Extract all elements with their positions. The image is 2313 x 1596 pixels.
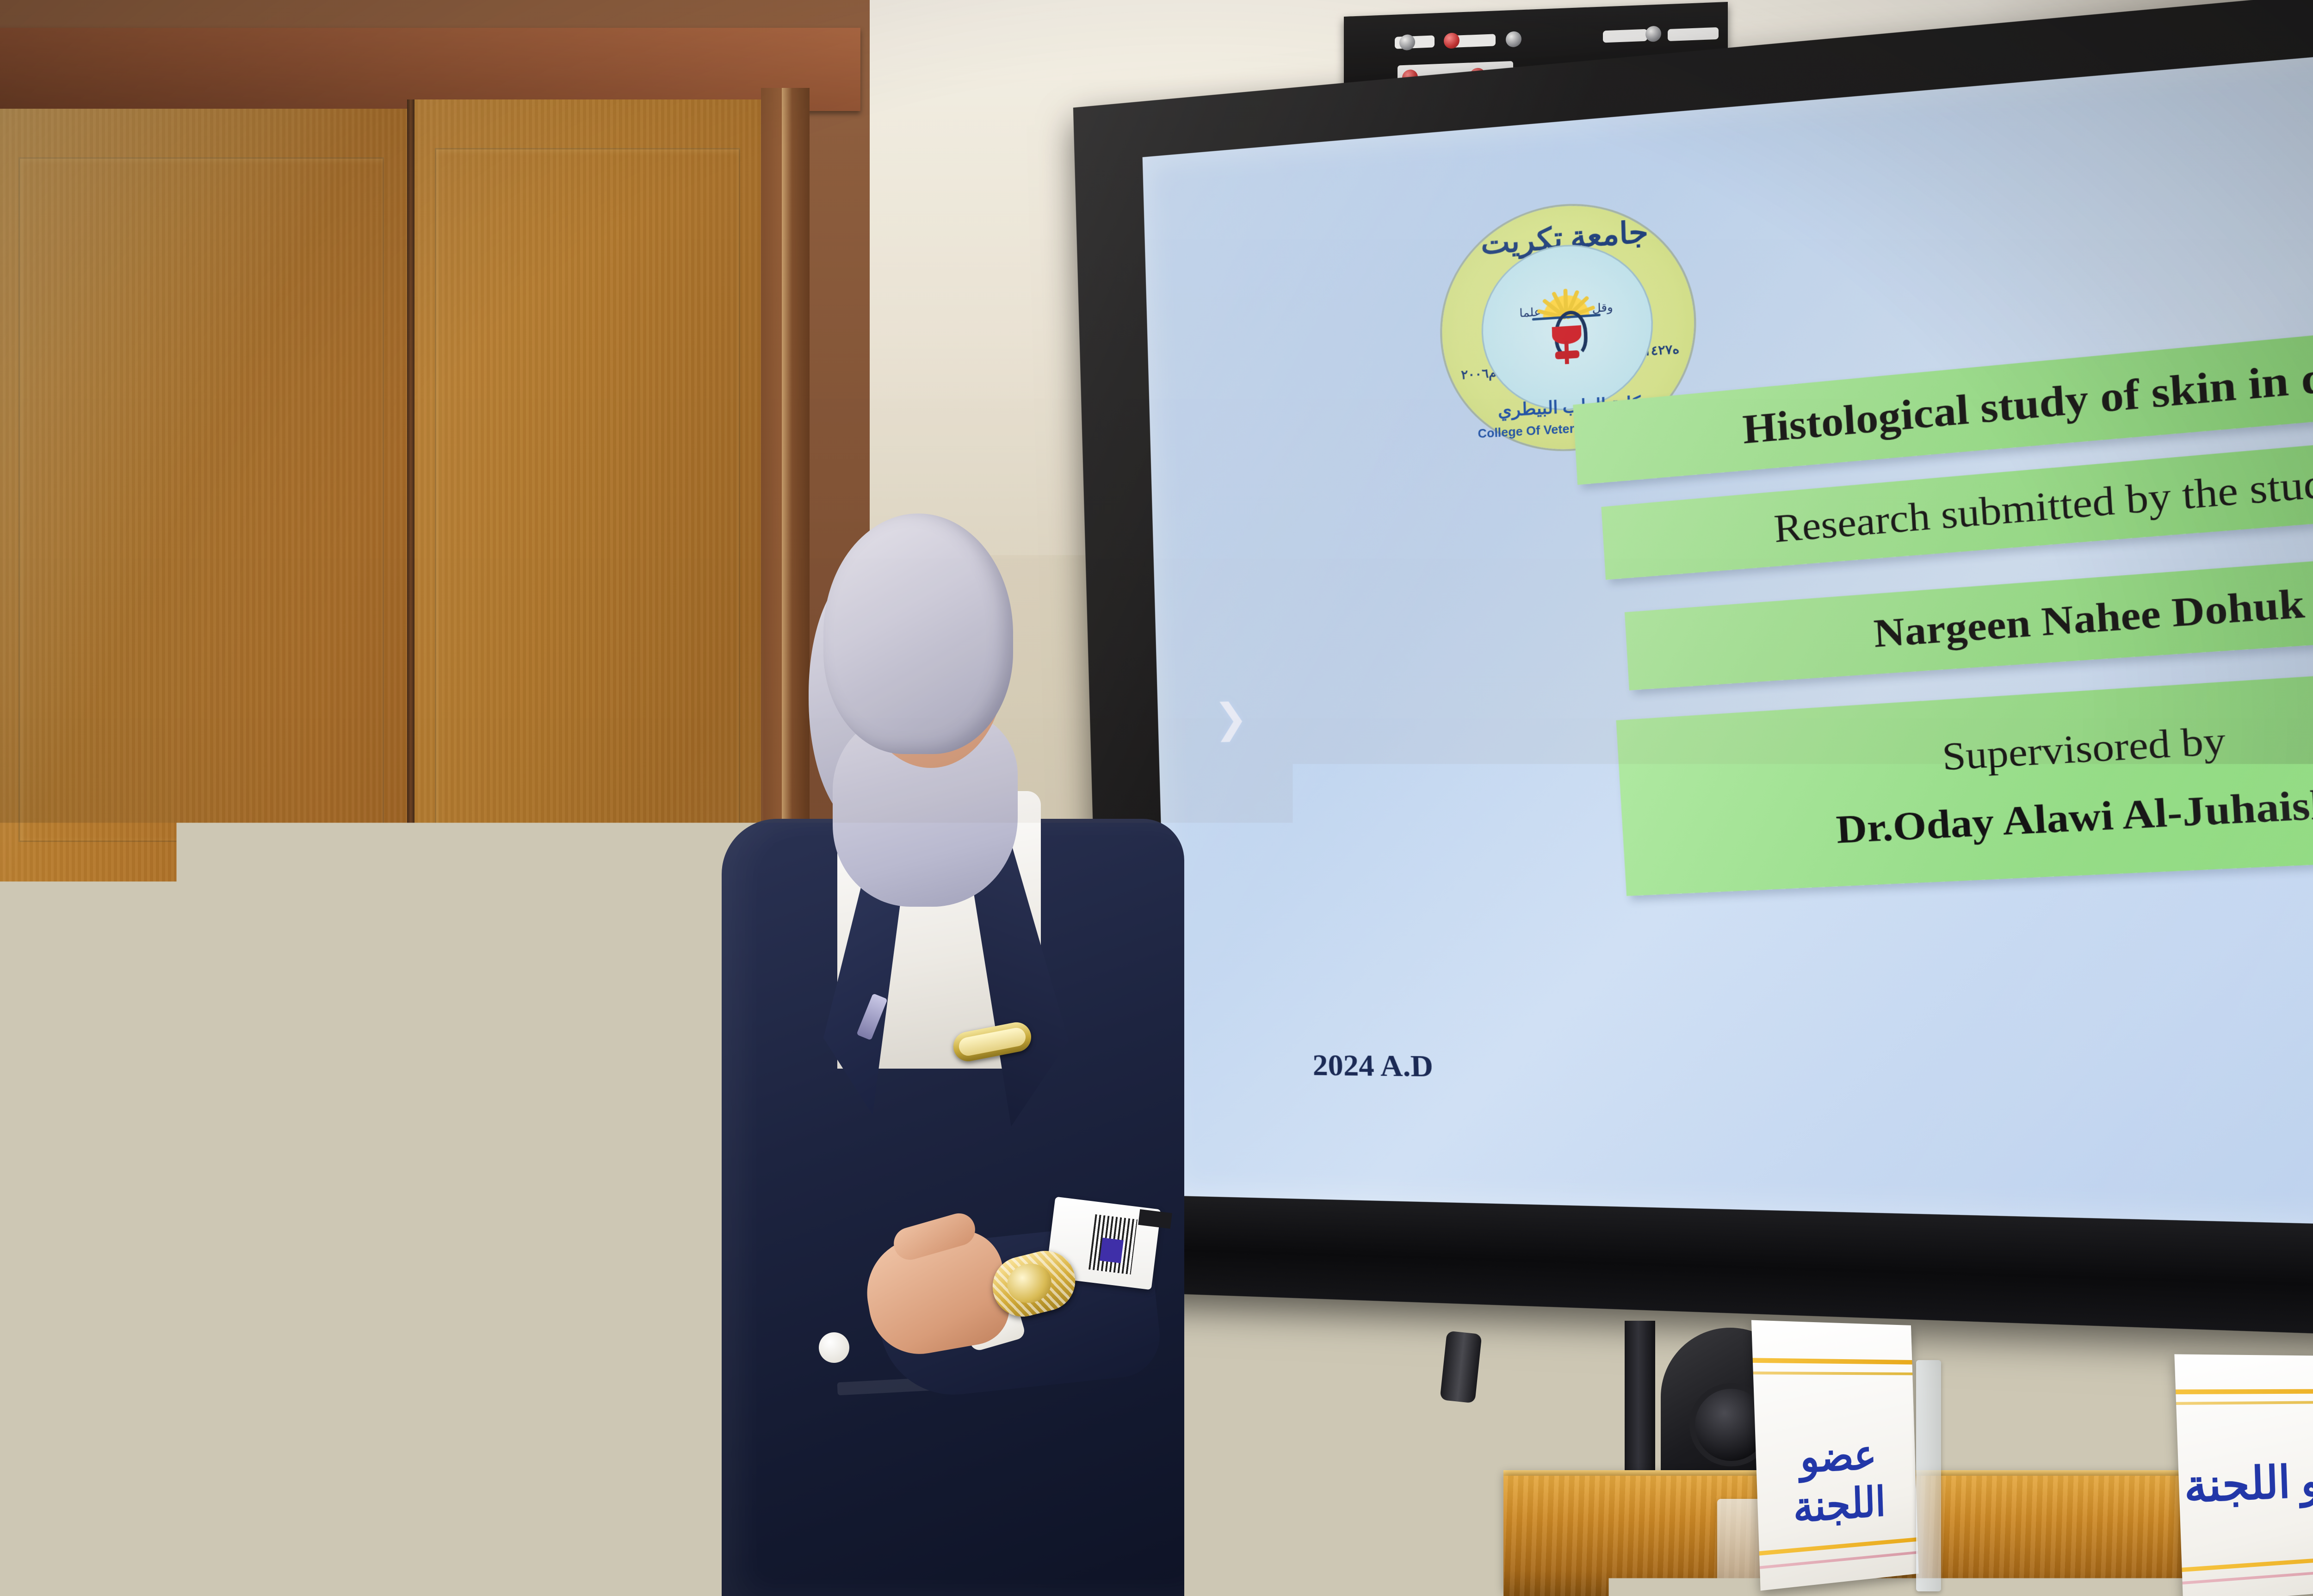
hdmi-cable-plug[interactable] bbox=[545, 1101, 600, 1127]
mount-screw bbox=[1506, 31, 1521, 47]
door-handle-knob[interactable] bbox=[281, 1078, 321, 1116]
door-keyhole[interactable] bbox=[391, 1170, 404, 1196]
committee-name-card: عضو اللجنة bbox=[2174, 1354, 2313, 1596]
card-stripe-gold-thin bbox=[2176, 1400, 2313, 1405]
door-sheen bbox=[0, 109, 763, 1596]
cable-ferrite-bead bbox=[1440, 1330, 1482, 1403]
card-stand-post bbox=[2156, 1392, 2181, 1596]
door-header-beam bbox=[0, 28, 860, 111]
card-label: عضو اللجنة bbox=[1755, 1430, 1917, 1535]
mount-slot bbox=[1603, 29, 1647, 43]
card-stripe-gold-bottom bbox=[2182, 1553, 2313, 1572]
committee-name-card: عضو اللجنة bbox=[1751, 1320, 1919, 1591]
mount-slot bbox=[1668, 27, 1719, 41]
card-stripe-gold bbox=[2176, 1389, 2313, 1394]
presenter bbox=[685, 513, 1286, 1596]
photo-scene: جامعة تكريت م٢٠٠٦ ه١٤٢٧ وقل رب زدني علما bbox=[0, 0, 2313, 1596]
card-stripe-pink bbox=[1760, 1551, 1918, 1569]
card-stripe-gold-thin bbox=[1753, 1372, 1913, 1375]
hijab-headscarf bbox=[823, 513, 1013, 754]
tag-blue-mark bbox=[1100, 1237, 1124, 1263]
blazer-button bbox=[819, 1332, 849, 1363]
mount-screw bbox=[1645, 26, 1661, 42]
card-stand-post bbox=[1916, 1360, 1941, 1591]
card-label: عضو اللجنة bbox=[2178, 1454, 2313, 1513]
card-stripe-gold bbox=[1753, 1358, 1912, 1365]
